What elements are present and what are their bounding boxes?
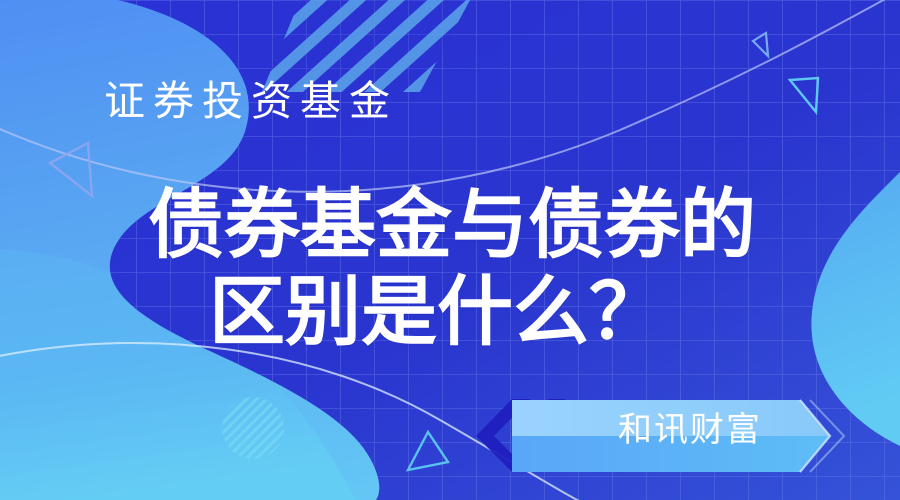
poster-canvas: 证券投资基金 债券基金与债券的 区别是什么？ 和讯财富 <box>0 0 900 500</box>
banner-shape-bottom <box>512 436 830 472</box>
striped-circle <box>222 397 284 459</box>
background-artwork <box>0 0 900 500</box>
banner-shape-top-solid <box>512 400 830 436</box>
